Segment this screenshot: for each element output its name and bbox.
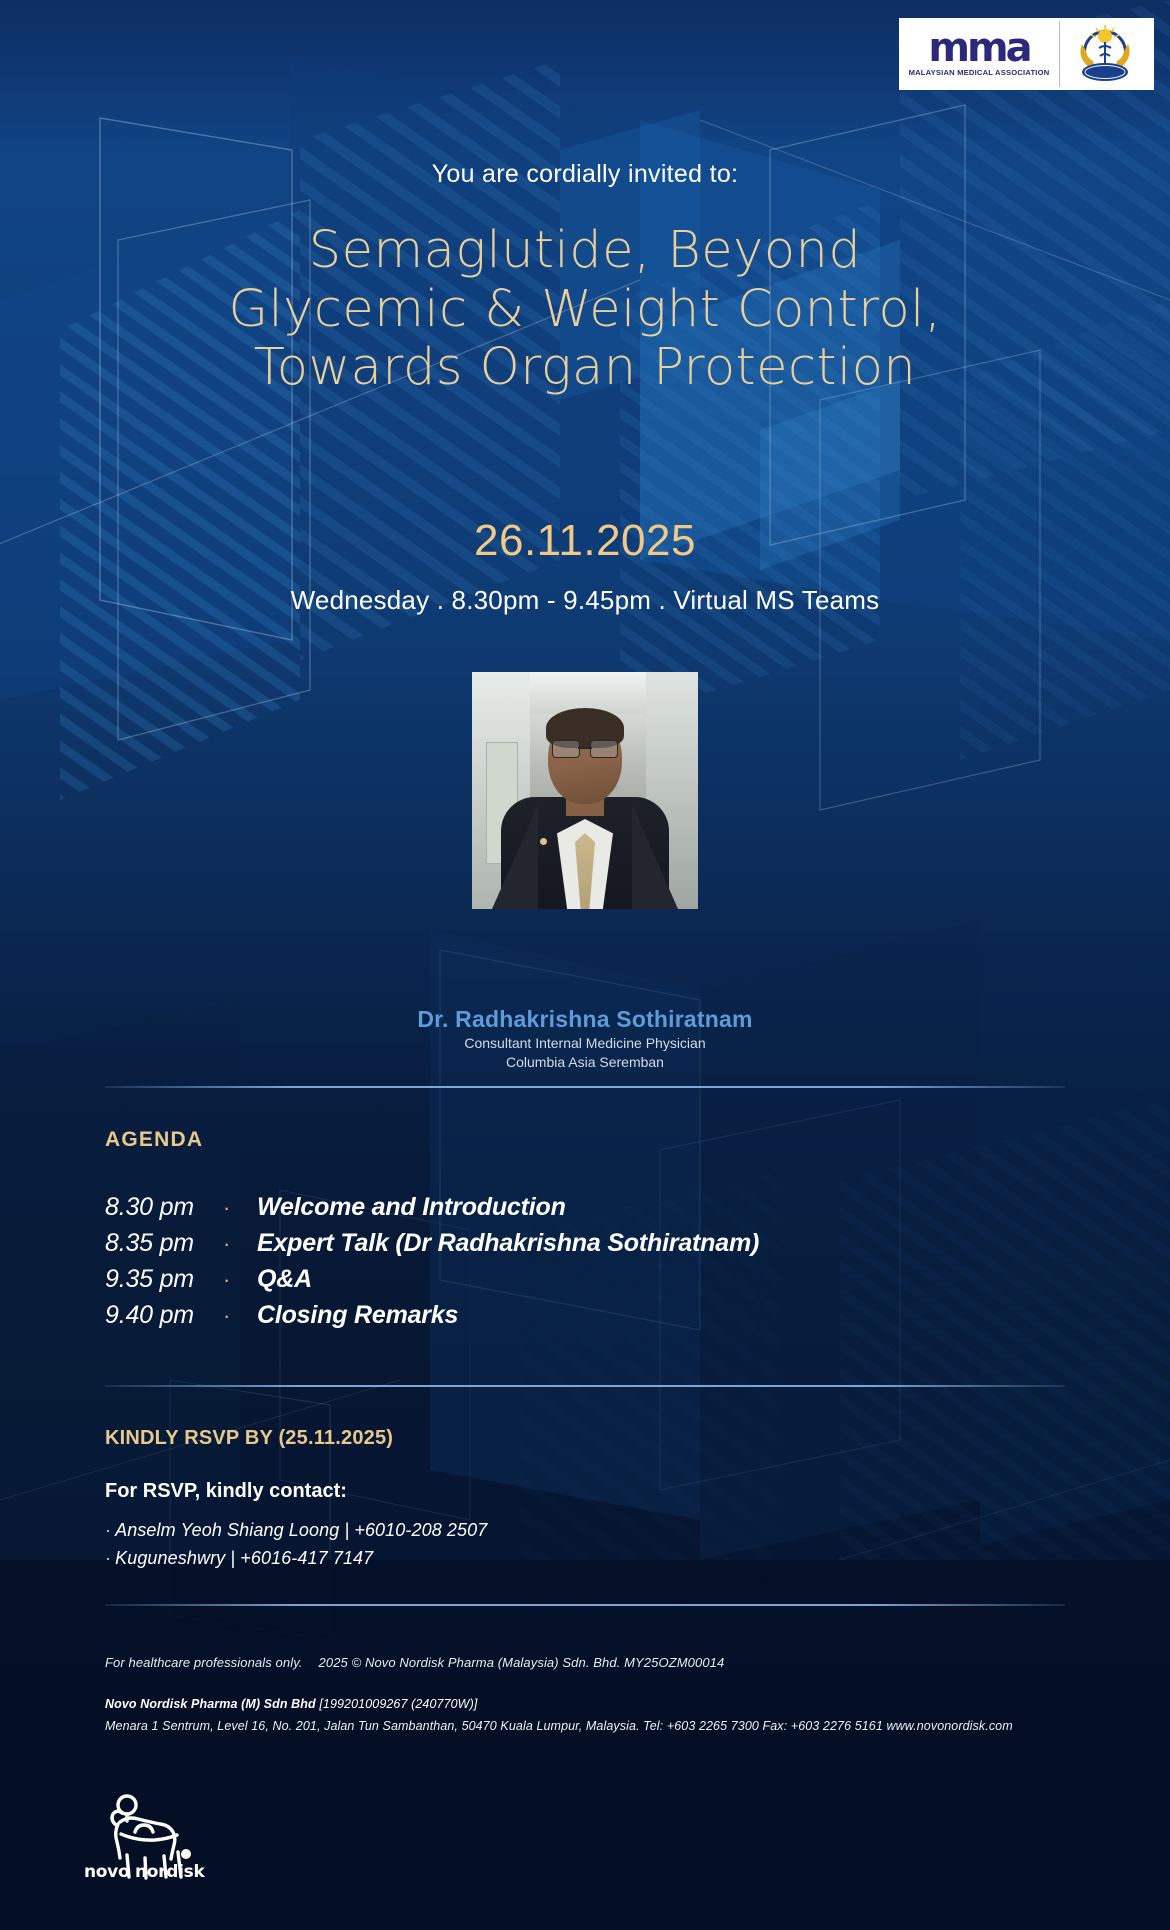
agenda-bullet-icon: ·	[223, 1231, 257, 1257]
agenda-label: Welcome and Introduction	[257, 1193, 566, 1222]
agenda-time: 9.35 pm	[105, 1265, 223, 1294]
agenda-time: 9.40 pm	[105, 1301, 223, 1330]
agenda-row: 8.30 pm · Welcome and Introduction	[105, 1193, 985, 1222]
photo-glasses-bridge	[578, 747, 592, 749]
agenda-row: 8.35 pm · Expert Talk (Dr Radhakrishna S…	[105, 1229, 985, 1258]
rsvp-subheading: For RSVP, kindly contact:	[105, 1480, 347, 1503]
divider-top	[105, 1086, 1065, 1088]
novo-nordisk-wordmark: novo nordisk	[84, 1862, 204, 1882]
event-title-line-3: Towards Organ Protection	[0, 339, 1170, 398]
divider-middle	[105, 1385, 1065, 1387]
speaker-photo-image	[472, 672, 698, 909]
event-date: 26.11.2025	[0, 516, 1170, 566]
agenda-time: 8.35 pm	[105, 1229, 223, 1258]
agenda-label: Closing Remarks	[257, 1301, 458, 1330]
speaker-photo	[472, 672, 698, 909]
rsvp-contact-item: ·Anselm Yeoh Shiang Loong | +6010-208 25…	[105, 1517, 487, 1545]
footer-legal-line: For healthcare professionals only.2025 ©…	[105, 1655, 724, 1670]
event-title: Semaglutide, Beyond Glycemic & Weight Co…	[0, 222, 1170, 398]
agenda-list: 8.30 pm · Welcome and Introduction 8.35 …	[105, 1193, 985, 1337]
divider-bottom	[105, 1604, 1065, 1606]
copyright-notice: 2025 © Novo Nordisk Pharma (Malaysia) Sd…	[319, 1655, 725, 1670]
agenda-label: Expert Talk (Dr Radhakrishna Sothiratnam…	[257, 1229, 759, 1258]
invitation-line: You are cordially invited to:	[0, 160, 1170, 189]
agenda-heading: AGENDA	[105, 1128, 203, 1152]
event-invitation-poster: mma MALAYSIAN MEDICAL ASSOCIATION	[0, 0, 1170, 1930]
photo-lapel-pin	[540, 838, 547, 845]
company-name: Novo Nordisk Pharma (M) Sdn Bhd	[105, 1697, 319, 1711]
photo-glasses-left-lens	[552, 740, 580, 758]
photo-glasses-right-lens	[590, 740, 618, 758]
agenda-row: 9.40 pm · Closing Remarks	[105, 1301, 985, 1330]
speaker-credentials: Consultant Internal Medicine Physician C…	[0, 1034, 1170, 1072]
hcp-notice: For healthcare professionals only.	[105, 1655, 303, 1670]
agenda-row: 9.35 pm · Q&A	[105, 1265, 985, 1294]
speaker-role: Consultant Internal Medicine Physician	[0, 1034, 1170, 1053]
footer-company-line: Novo Nordisk Pharma (M) Sdn Bhd [1992010…	[105, 1697, 477, 1711]
rsvp-bullet-icon: ·	[105, 1520, 111, 1540]
rsvp-contact-list: ·Anselm Yeoh Shiang Loong | +6010-208 25…	[105, 1517, 487, 1573]
event-schedule-line: Wednesday . 8.30pm - 9.45pm . Virtual MS…	[0, 585, 1170, 616]
company-registration: [199201009267 (240770W)]	[319, 1697, 477, 1711]
event-title-line-2: Glycemic & Weight Control,	[0, 281, 1170, 340]
rsvp-heading: KINDLY RSVP BY (25.11.2025)	[105, 1427, 393, 1450]
agenda-label: Q&A	[257, 1265, 312, 1294]
rsvp-bullet-icon: ·	[105, 1548, 111, 1568]
rsvp-contact-text: Kuguneshwry | +6016-417 7147	[115, 1548, 373, 1568]
speaker-name: Dr. Radhakrishna Sothiratnam	[0, 1006, 1170, 1033]
rsvp-contact-text: Anselm Yeoh Shiang Loong | +6010-208 250…	[115, 1520, 487, 1540]
agenda-bullet-icon: ·	[223, 1195, 257, 1221]
agenda-bullet-icon: ·	[223, 1267, 257, 1293]
photo-glasses	[552, 740, 618, 757]
event-title-line-1: Semaglutide, Beyond	[0, 222, 1170, 281]
agenda-time: 8.30 pm	[105, 1193, 223, 1222]
footer-address: Menara 1 Sentrum, Level 16, No. 201, Jal…	[105, 1719, 1013, 1733]
speaker-affiliation: Columbia Asia Seremban	[0, 1053, 1170, 1072]
rsvp-contact-item: ·Kuguneshwry | +6016-417 7147	[105, 1545, 487, 1573]
agenda-bullet-icon: ·	[223, 1303, 257, 1329]
poster-content: You are cordially invited to: Semaglutid…	[0, 0, 1170, 1930]
